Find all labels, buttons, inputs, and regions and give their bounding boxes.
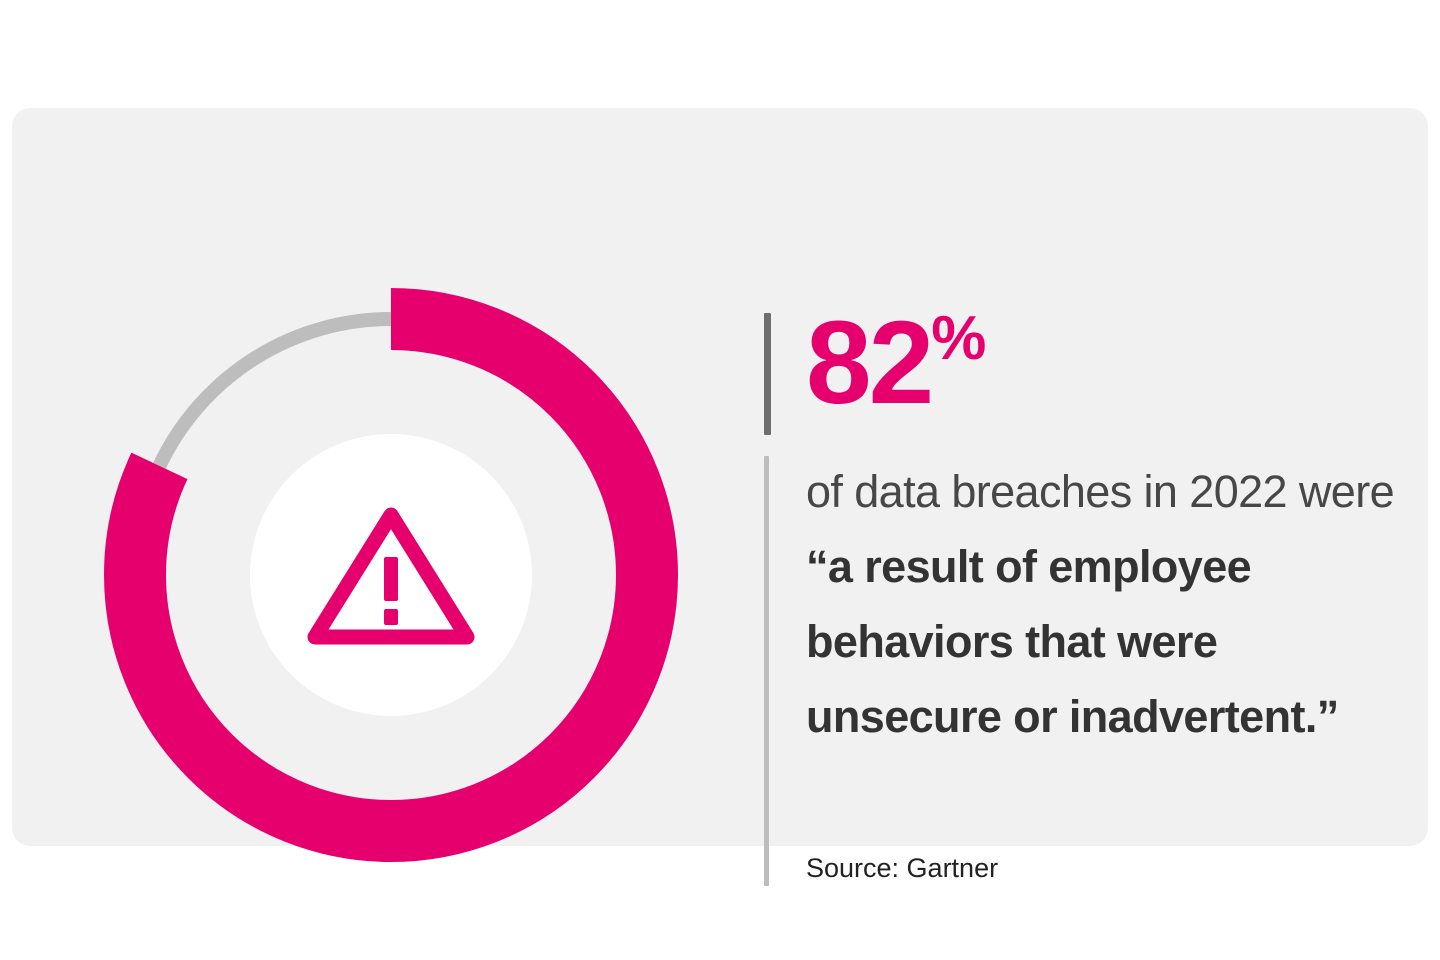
body-copy: of data breaches in 2022 were “a result … [806,454,1396,754]
warning-triangle-icon-svg [305,499,477,651]
donut-chart [103,287,679,863]
body-copy-lead: of data breaches in 2022 were [806,466,1394,517]
big-stat-number: 82 [806,297,931,429]
big-stat-value: 82% [806,304,1404,422]
big-stat-percent-symbol: % [931,304,985,373]
accent-rule-top [764,313,771,435]
big-stat-block: 82% [806,304,1404,422]
accent-rule-bottom [764,456,769,886]
icon-disc [250,434,532,716]
stat-text-panel: 82% of data breaches in 2022 were “a res… [764,304,1404,904]
stat-card: 82% of data breaches in 2022 were “a res… [12,108,1428,846]
source-attribution: Source: Gartner [806,852,998,884]
body-copy-quote: “a result of employee behaviors that wer… [806,541,1339,742]
infographic-stage: 82% of data breaches in 2022 were “a res… [0,0,1440,960]
warning-triangle-icon [305,499,477,651]
